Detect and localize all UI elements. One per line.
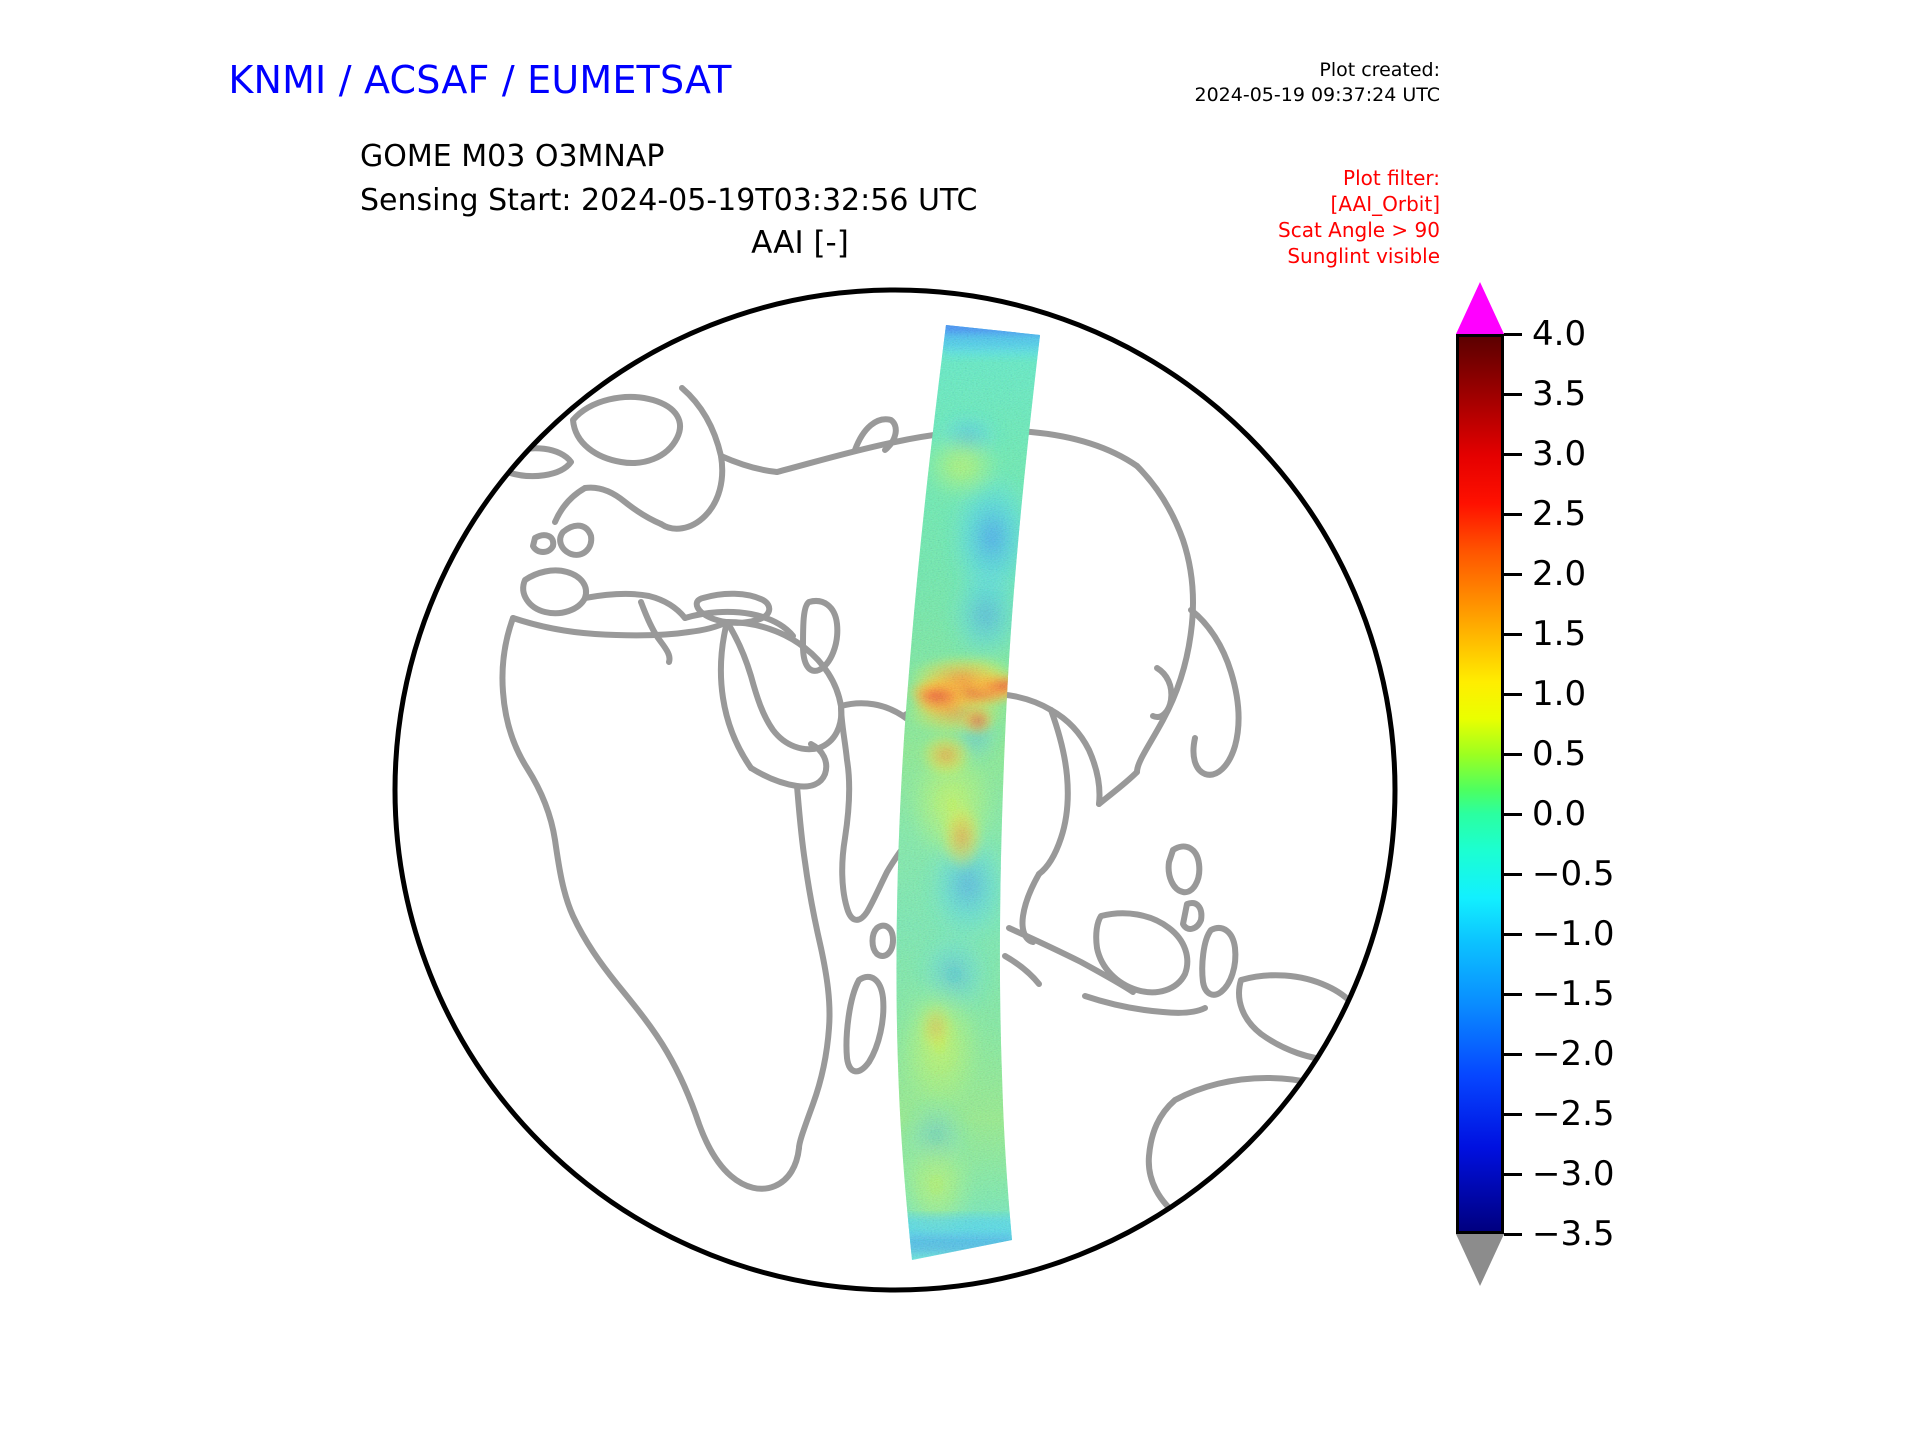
colorbar-tick-label: −1.0 — [1532, 917, 1615, 951]
plot-filter-note: Sunglint visible — [1140, 243, 1440, 269]
colorbar-tick-label: 2.0 — [1532, 557, 1586, 591]
colorbar-tick-label: −0.5 — [1532, 857, 1615, 891]
colorbar-tick — [1504, 573, 1522, 576]
colorbar-tick-label: −1.5 — [1532, 977, 1615, 1011]
plot-filter-label: Plot filter: — [1140, 165, 1440, 191]
colorbar-tick — [1504, 753, 1522, 756]
plot-created-block: Plot created: 2024-05-19 09:37:24 UTC — [1100, 58, 1440, 108]
colorbar-tick — [1504, 1173, 1522, 1176]
colorbar-tick — [1504, 1233, 1522, 1236]
colorbar-tick — [1504, 1053, 1522, 1056]
plot-created-label: Plot created: — [1100, 58, 1440, 83]
plot-created-timestamp: 2024-05-19 09:37:24 UTC — [1100, 83, 1440, 108]
colorbar-tick — [1504, 393, 1522, 396]
colorbar-tick-label: 3.5 — [1532, 377, 1586, 411]
colorbar-bar — [1456, 334, 1504, 1234]
colorbar-tick-label: −2.0 — [1532, 1037, 1615, 1071]
instrument-line: GOME M03 O3MNAP — [360, 135, 977, 179]
colorbar-tick — [1504, 513, 1522, 516]
colorbar-tick — [1504, 633, 1522, 636]
colorbar-under-arrow — [1456, 1234, 1504, 1286]
colorbar-over-arrow — [1456, 282, 1504, 334]
colorbar-tick — [1504, 333, 1522, 336]
colorbar-tick-label: 4.0 — [1532, 317, 1586, 351]
colorbar-tick-label: −3.0 — [1532, 1157, 1615, 1191]
colorbar-tick — [1504, 933, 1522, 936]
globe-map — [385, 280, 1405, 1300]
colorbar-tick — [1504, 693, 1522, 696]
colorbar-tick — [1504, 453, 1522, 456]
colorbar: 4.03.53.02.52.01.51.00.50.0−0.5−1.0−1.5−… — [1428, 282, 1758, 1312]
plot-filter-block: Plot filter: [AAI_Orbit] Scat Angle > 90… — [1140, 165, 1440, 269]
colorbar-tick-label: 1.5 — [1532, 617, 1586, 651]
plot-filter-name: [AAI_Orbit] — [1140, 191, 1440, 217]
colorbar-tick — [1504, 873, 1522, 876]
colorbar-tick — [1504, 813, 1522, 816]
colorbar-tick-label: −2.5 — [1532, 1097, 1615, 1131]
colorbar-tick-label: −3.5 — [1532, 1217, 1615, 1251]
colorbar-tick-label: 0.0 — [1532, 797, 1586, 831]
colorbar-tick-label: 3.0 — [1532, 437, 1586, 471]
organisations-title: KNMI / ACSAF / EUMETSAT — [0, 58, 960, 102]
colorbar-tick-label: 0.5 — [1532, 737, 1586, 771]
colorbar-tick-label: 2.5 — [1532, 497, 1586, 531]
colorbar-gradient — [1459, 337, 1501, 1231]
instrument-info-block: GOME M03 O3MNAP Sensing Start: 2024-05-1… — [360, 135, 977, 223]
plot-filter-condition: Scat Angle > 90 — [1140, 217, 1440, 243]
colorbar-tick-label: 1.0 — [1532, 677, 1586, 711]
colorbar-tick — [1504, 993, 1522, 996]
sensing-start-line: Sensing Start: 2024-05-19T03:32:56 UTC — [360, 179, 977, 223]
colorbar-tick — [1504, 1113, 1522, 1116]
